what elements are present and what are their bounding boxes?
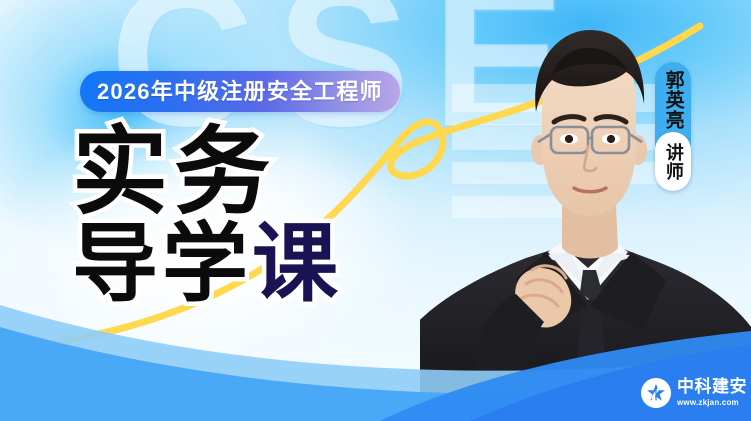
instructor-role-badge: 讲师 [655,132,691,191]
course-poster: CSE CSE [0,0,751,421]
course-tag-banner: 2026年中级注册安全工程师 [80,71,400,112]
headline-line-1: 实务 [72,128,342,217]
course-tag-label: 2026年中级注册安全工程师 [97,81,383,103]
instructor-name-label: 郭英亮 [662,70,683,130]
star-arrow-icon [641,378,671,408]
headline-line-2-black: 导学 [72,216,252,312]
brand-url: www.zkjan.com [677,398,747,408]
headline-line-2-navy: 课 [252,216,342,312]
headline-line-2: 导学课 [72,225,342,305]
brand-logo[interactable]: 中科建安 www.zkjan.com [641,378,747,408]
brand-name: 中科建安 [677,378,747,396]
page-title: 实务 导学课 [72,128,342,305]
instructor-role-label: 讲师 [663,143,683,181]
brand-logo-text: 中科建安 www.zkjan.com [677,378,747,407]
